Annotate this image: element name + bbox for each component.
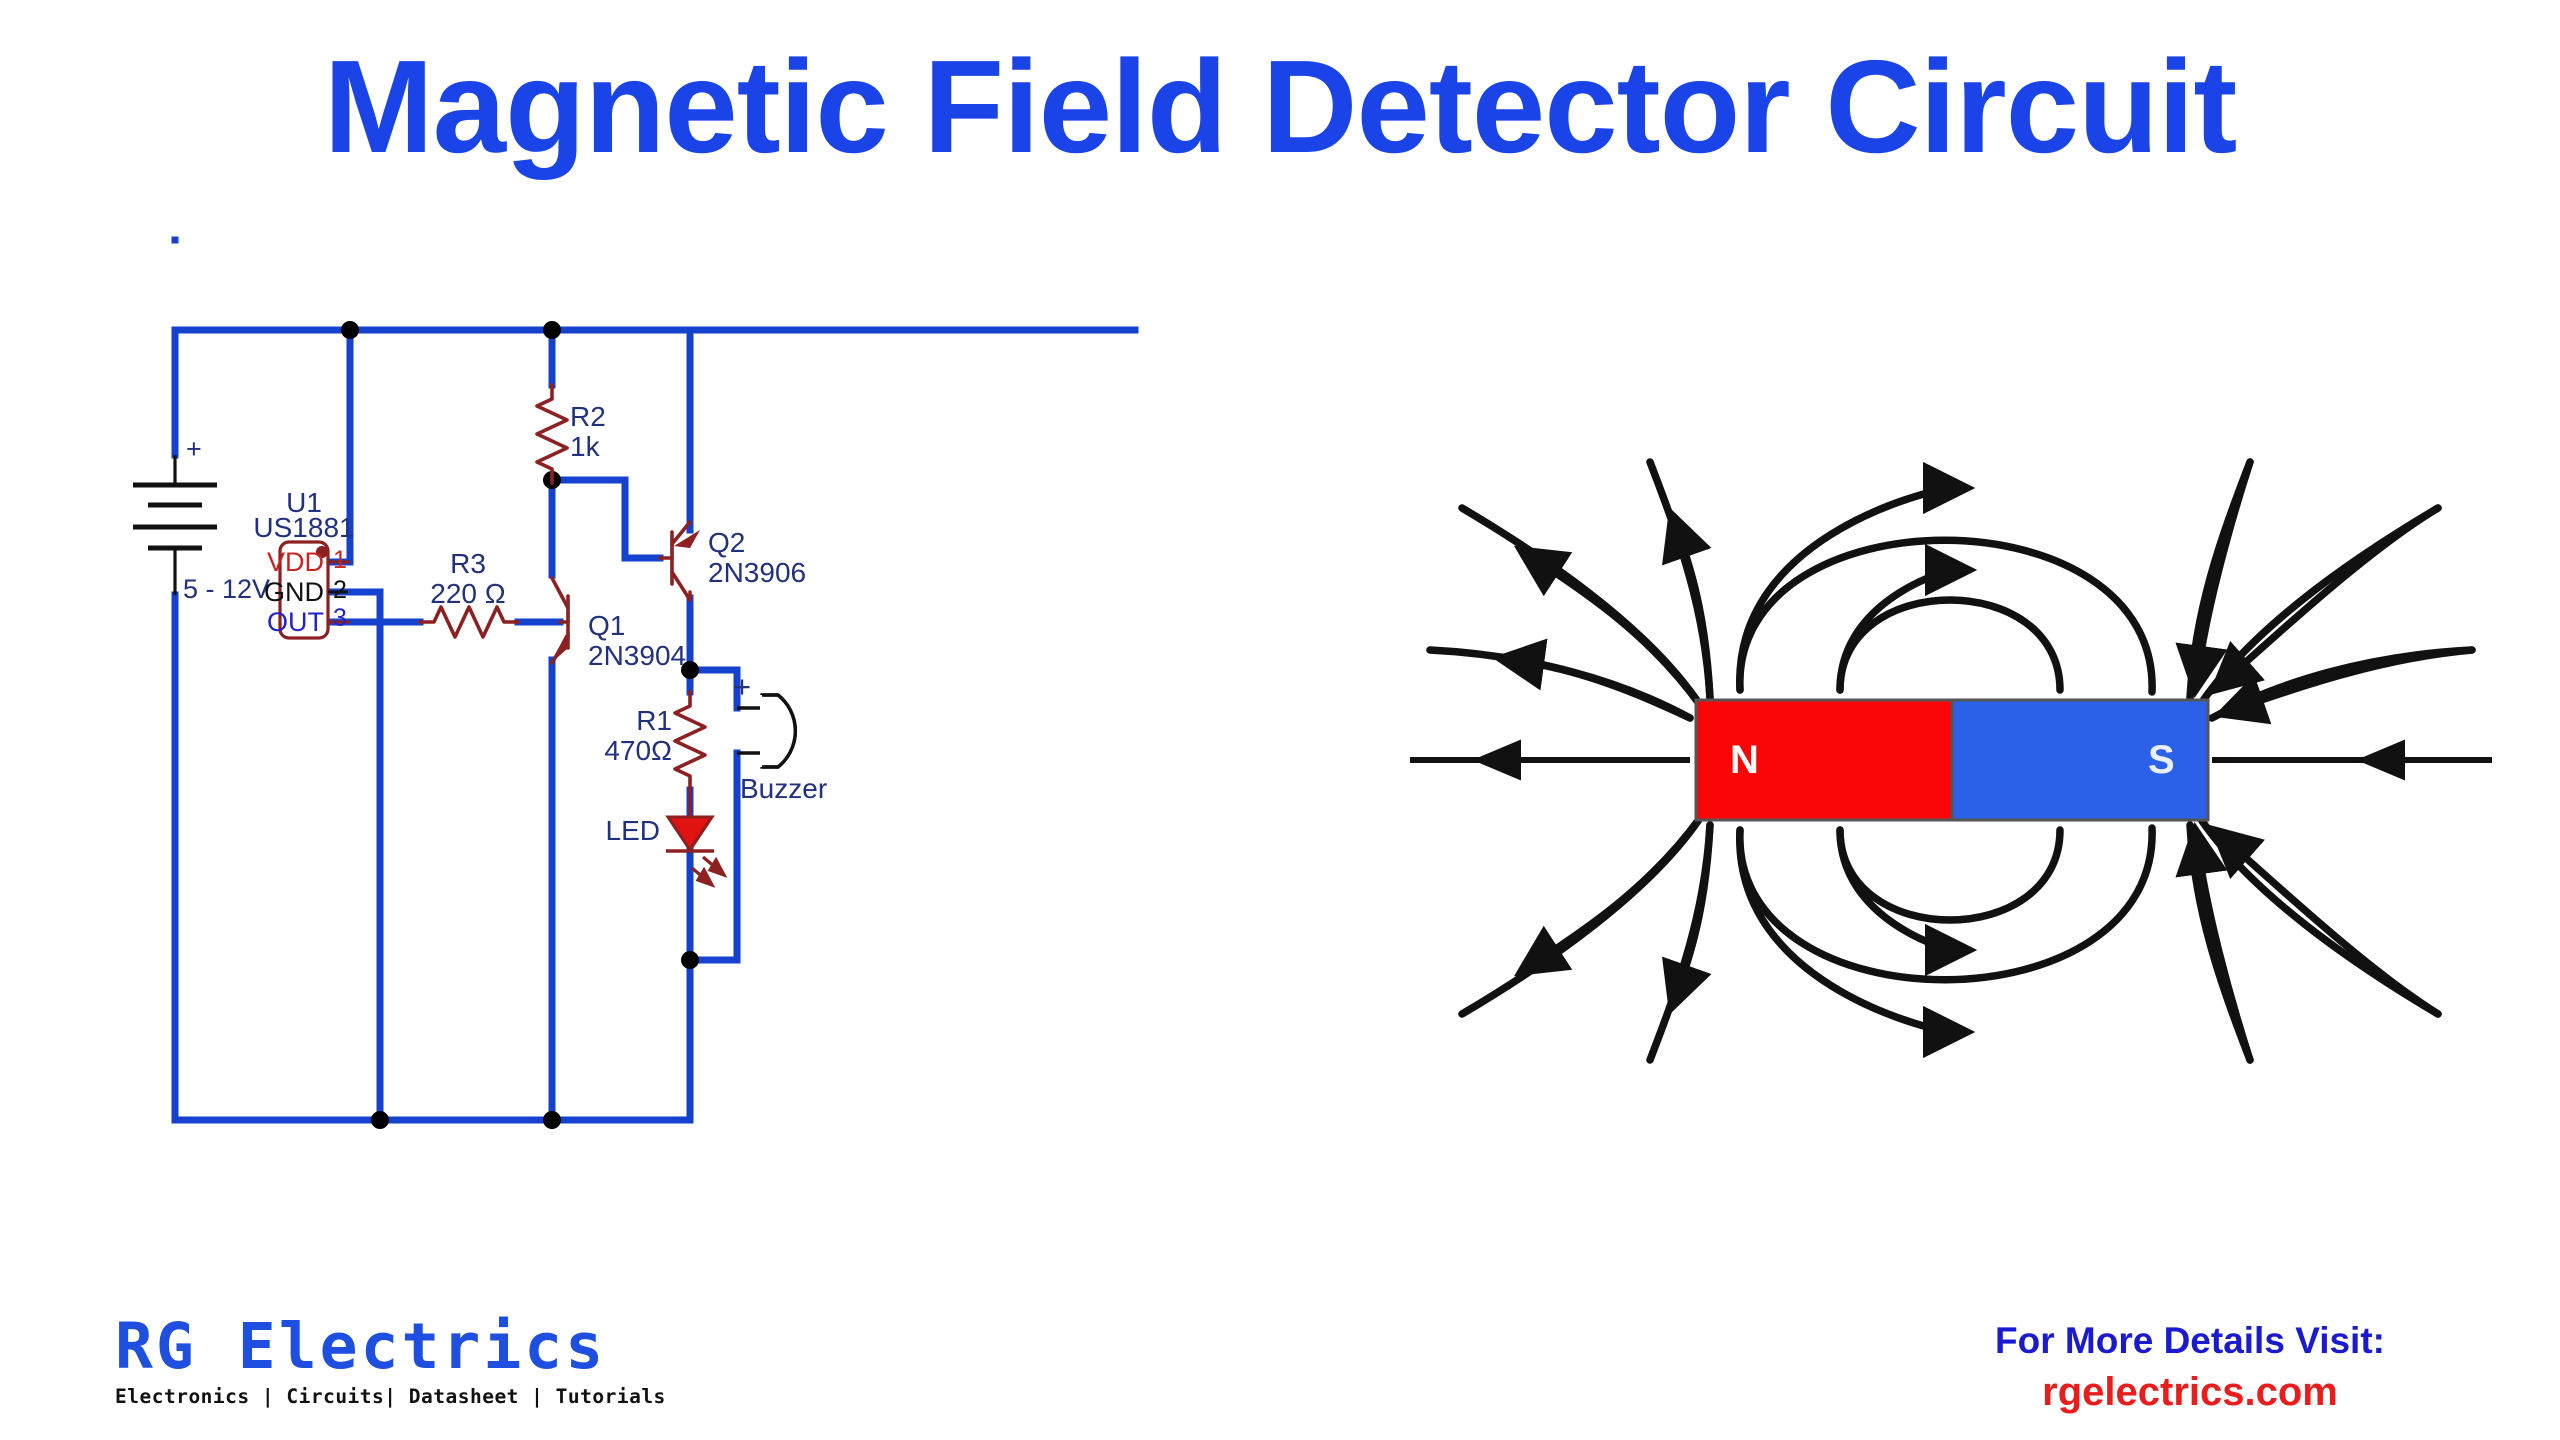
- buzzer-plus-label: +: [733, 669, 751, 704]
- q1-value-label: 2N3904: [588, 640, 686, 671]
- transistor-q2[interactable]: Q2 2N3906: [660, 522, 806, 600]
- r1-value-label: 470Ω: [604, 735, 672, 766]
- ic-pin-label-vdd: VDD: [267, 547, 324, 577]
- buzzer-label: Buzzer: [740, 773, 827, 804]
- q2-ref-label: Q2: [708, 527, 745, 558]
- logo-tagline: Electronics | Circuits| Datasheet | Tuto…: [115, 1385, 635, 1408]
- magnet-north-label: N: [1730, 738, 1759, 782]
- visit-url[interactable]: rgelectrics.com: [1930, 1370, 2450, 1415]
- ic-pin-number-2: 2: [333, 576, 347, 604]
- buzzer[interactable]: + Buzzer: [733, 669, 827, 804]
- ic-pin-number-1: 1: [333, 546, 347, 574]
- led-d1[interactable]: LED: [606, 815, 724, 885]
- visit-label: For More Details Visit:: [1930, 1320, 2450, 1362]
- battery-plus-label: +: [186, 434, 202, 464]
- q1-emitter-arrow: [550, 634, 567, 664]
- r1-ref-label: R1: [636, 705, 672, 736]
- bar-magnet[interactable]: N S: [1696, 700, 2208, 820]
- ic-part-label: US1881: [253, 512, 354, 543]
- brand-logo[interactable]: RG Electrics Electronics | Circuits| Dat…: [115, 1315, 635, 1425]
- q1-ref-label: Q1: [588, 610, 625, 641]
- r2-value-label: 1k: [570, 431, 601, 462]
- ic-pin-label-gnd: GND: [264, 577, 324, 607]
- led-emission-arrows: [692, 857, 724, 885]
- transistor-q1[interactable]: Q1 2N3904: [550, 578, 686, 671]
- resistor-r3[interactable]: R3 220 Ω: [420, 548, 518, 637]
- logo-wordmark: RG Electrics: [115, 1315, 635, 1378]
- ic-u1[interactable]: U1 US1881 VDD GND OUT 1 2 3: [253, 487, 354, 638]
- r3-value-label: 220 Ω: [430, 578, 505, 609]
- led-ref-label: LED: [606, 815, 660, 846]
- r2-ref-label: R2: [570, 401, 606, 432]
- wire-network: [175, 240, 1135, 1120]
- schematic-diagram: + 5 - 12V DC U1 US1881 VDD GND OUT 1 2 3…: [0, 330, 1400, 1250]
- ic-pin-number-3: 3: [333, 604, 347, 632]
- ic-pin-label-out: OUT: [267, 607, 324, 637]
- resistor-r2[interactable]: R2 1k: [537, 385, 606, 483]
- magnet-field-diagram: N S: [1400, 400, 2500, 1120]
- led-triangle: [668, 817, 712, 850]
- r3-ref-label: R3: [450, 548, 486, 579]
- resistor-r1[interactable]: R1 470Ω: [604, 692, 705, 790]
- visit-block: For More Details Visit: rgelectrics.com: [1930, 1320, 2450, 1415]
- magnet-south-label: S: [2148, 738, 2175, 782]
- page-title: Magnetic Field Detector Circuit: [0, 38, 2560, 177]
- q2-value-label: 2N3906: [708, 557, 806, 588]
